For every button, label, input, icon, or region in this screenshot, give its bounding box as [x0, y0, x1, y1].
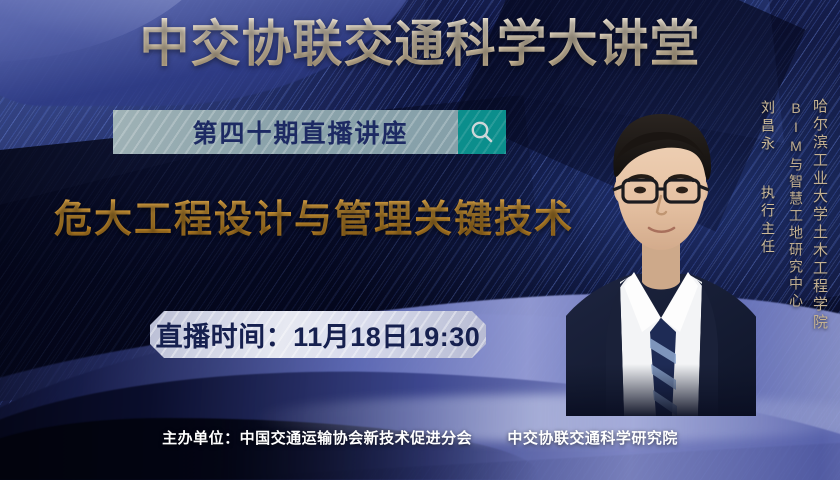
speaker-portrait [566, 86, 756, 416]
live-time-label: 直播时间：11月18日19:30 [156, 315, 481, 354]
episode-label: 第四十期直播讲座 [162, 114, 408, 150]
lecture-headline: 危大工程设计与管理关键技术 [54, 188, 574, 243]
page-title: 中交协联交通科学大讲堂 [0, 16, 840, 72]
speaker-affiliation: 哈尔滨工业大学土木工程学院 [809, 98, 830, 332]
live-lecture-poster: 中交协联交通科学大讲堂 第四十期直播讲座 危大工程设计与管理关键技术 直播时间：… [0, 0, 840, 480]
organizer-primary: 主办单位：中国交通运输协会新技术促进分会 [162, 430, 472, 447]
speaker-role: 执行主任 [758, 185, 778, 257]
speaker-name: 刘昌永 [758, 100, 778, 154]
search-icon [469, 119, 495, 145]
search-button[interactable] [458, 110, 506, 154]
speaker-research-center: BIM与智慧工地研究中心 [786, 100, 806, 310]
episode-bar: 第四十期直播讲座 [113, 110, 458, 154]
organizer-secondary: 中交协联交通科学研究院 [507, 430, 678, 447]
live-time-badge: 直播时间：11月18日19:30 [150, 311, 486, 358]
organizer-footer: 主办单位：中国交通运输协会新技术促进分会 中交协联交通科学研究院 [0, 427, 840, 448]
